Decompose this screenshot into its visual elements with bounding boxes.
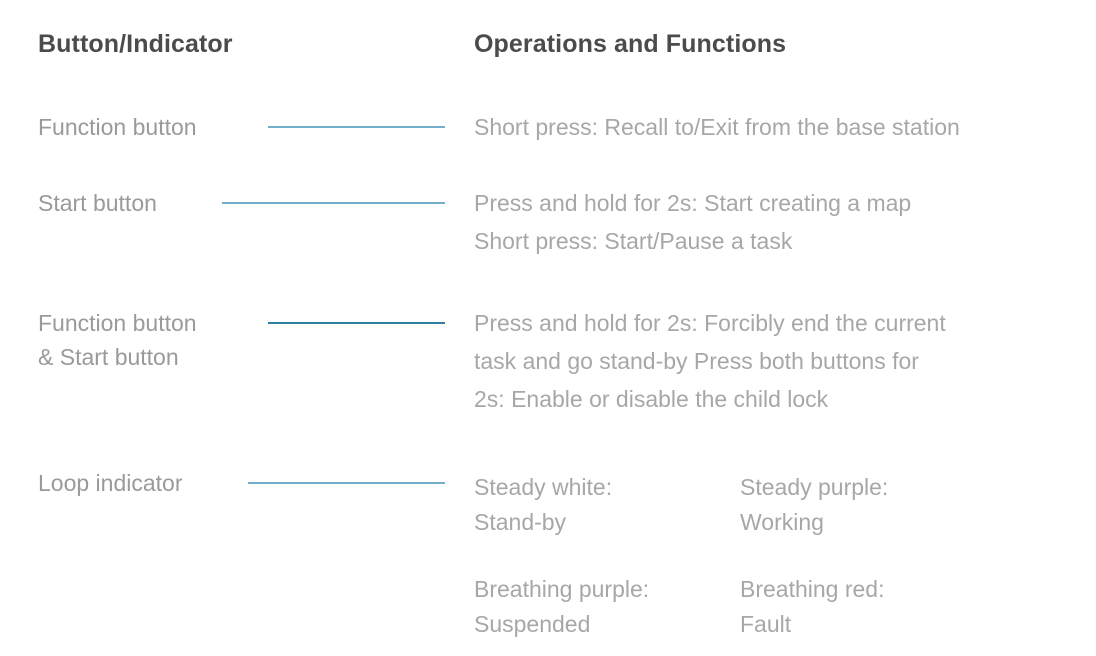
column-header-operations-functions: Operations and Functions	[474, 30, 786, 59]
row-label: Start button	[38, 186, 157, 220]
indicator-state-name: Steady white:	[474, 470, 612, 505]
row-description: Short press: Recall to/Exit from the bas…	[474, 108, 960, 146]
table-header: Button/Indicator Operations and Function…	[0, 30, 1096, 70]
description-line: 2s: Enable or disable the child lock	[474, 380, 946, 418]
indicator-state-meaning: Suspended	[474, 607, 649, 642]
button-indicator-reference-table: Button/Indicator Operations and Function…	[0, 0, 1096, 651]
row-label: Loop indicator	[38, 466, 183, 500]
indicator-state-name: Breathing purple:	[474, 572, 649, 607]
connector-line-icon	[268, 126, 445, 128]
row-label-line: & Start button	[38, 340, 197, 374]
connector-line-icon	[268, 322, 445, 324]
indicator-state: Steady white: Stand-by	[474, 470, 612, 540]
row-description: Press and hold for 2s: Start creating a …	[474, 184, 911, 260]
row-label: Function button	[38, 110, 197, 144]
description-line: Short press: Start/Pause a task	[474, 222, 911, 260]
row-description: Press and hold for 2s: Forcibly end the …	[474, 304, 946, 418]
indicator-state: Steady purple: Working	[740, 470, 888, 540]
indicator-state-name: Steady purple:	[740, 470, 888, 505]
description-line: Press and hold for 2s: Start creating a …	[474, 184, 911, 222]
indicator-state: Breathing red: Fault	[740, 572, 884, 642]
connector-line-icon	[222, 202, 445, 204]
row-label-line: Start button	[38, 186, 157, 220]
indicator-state-meaning: Working	[740, 505, 888, 540]
description-line: Short press: Recall to/Exit from the bas…	[474, 108, 960, 146]
indicator-state: Breathing purple: Suspended	[474, 572, 649, 642]
indicator-state-meaning: Stand-by	[474, 505, 612, 540]
row-label-line: Function button	[38, 110, 197, 144]
description-line: Press and hold for 2s: Forcibly end the …	[474, 304, 946, 342]
column-header-button-indicator: Button/Indicator	[38, 30, 233, 59]
description-line: task and go stand-by Press both buttons …	[474, 342, 946, 380]
row-label: Function button & Start button	[38, 306, 197, 374]
connector-line-icon	[248, 482, 445, 484]
row-label-line: Loop indicator	[38, 466, 183, 500]
indicator-state-name: Breathing red:	[740, 572, 884, 607]
row-label-line: Function button	[38, 306, 197, 340]
indicator-state-meaning: Fault	[740, 607, 884, 642]
